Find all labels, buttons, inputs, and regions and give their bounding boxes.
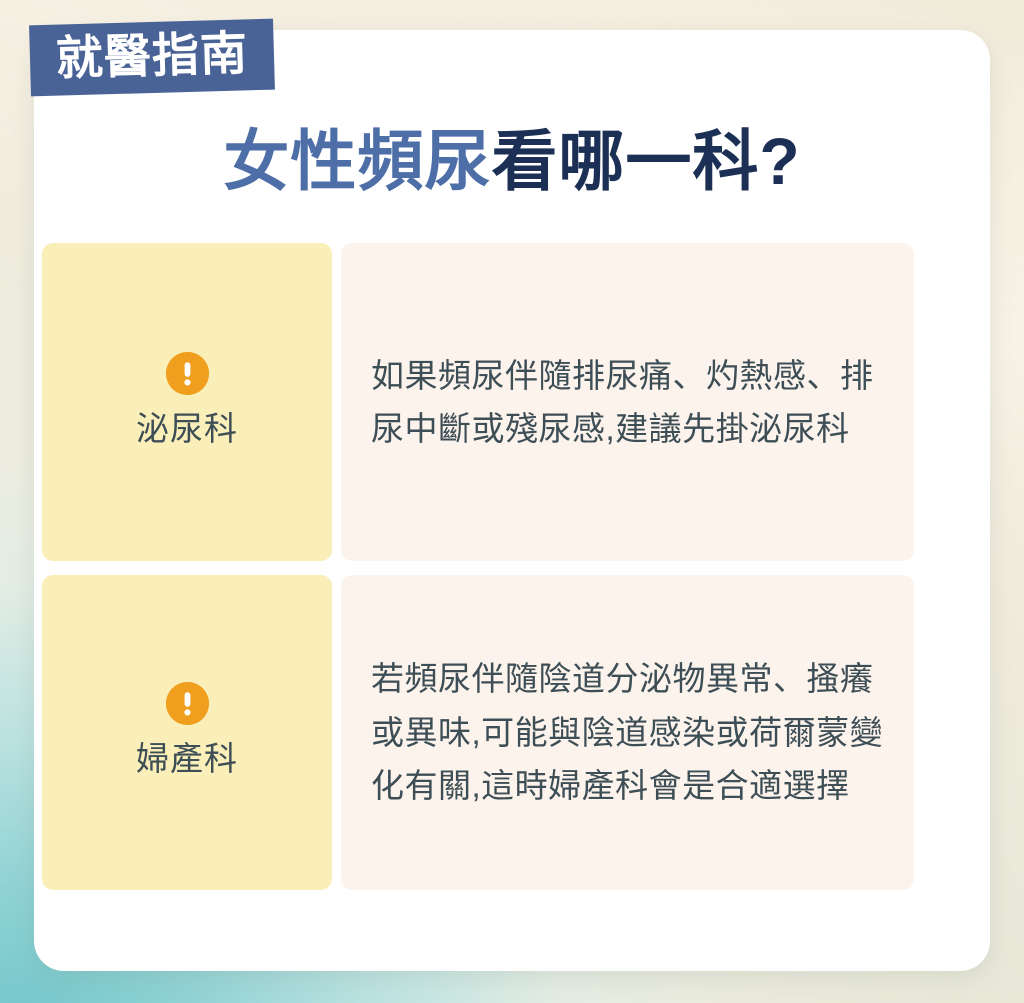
department-name: 婦產科 xyxy=(136,739,238,779)
section-badge: 就醫指南 xyxy=(29,19,275,97)
description-text: 若頻尿伴隨陰道分泌物異常、搔癢或異味,可能與陰道感染或荷爾蒙變化有關,這時婦產科… xyxy=(371,652,890,812)
page-title: 女性頻尿看哪一科? xyxy=(0,124,1024,200)
department-cell: 婦產科 xyxy=(42,575,332,890)
infographic-poster: 就醫指南 女性頻尿看哪一科? 泌尿科 如果頻尿伴隨排尿痛、灼熱感、排尿中斷或殘尿… xyxy=(0,0,1024,1003)
department-list: 泌尿科 如果頻尿伴隨排尿痛、灼熱感、排尿中斷或殘尿感,建議先掛泌尿科 婦產科 xyxy=(42,243,914,890)
description-panel: 如果頻尿伴隨排尿痛、灼熱感、排尿中斷或殘尿感,建議先掛泌尿科 xyxy=(341,243,914,561)
description-text: 如果頻尿伴隨排尿痛、灼熱感、排尿中斷或殘尿感,建議先掛泌尿科 xyxy=(371,349,880,456)
department-row: 婦產科 若頻尿伴隨陰道分泌物異常、搔癢或異味,可能與陰道感染或荷爾蒙變化有關,這… xyxy=(42,575,914,890)
page-title-part1: 女性頻尿 xyxy=(223,124,491,198)
department-cell: 泌尿科 xyxy=(42,243,332,561)
department-name: 泌尿科 xyxy=(136,409,238,449)
exclamation-circle-icon xyxy=(166,352,209,395)
department-row: 泌尿科 如果頻尿伴隨排尿痛、灼熱感、排尿中斷或殘尿感,建議先掛泌尿科 xyxy=(42,243,914,561)
page-title-part2: 看哪一科? xyxy=(491,124,800,198)
description-panel: 若頻尿伴隨陰道分泌物異常、搔癢或異味,可能與陰道感染或荷爾蒙變化有關,這時婦產科… xyxy=(341,575,914,890)
section-badge-label: 就醫指南 xyxy=(55,28,248,83)
exclamation-circle-icon xyxy=(166,682,209,725)
